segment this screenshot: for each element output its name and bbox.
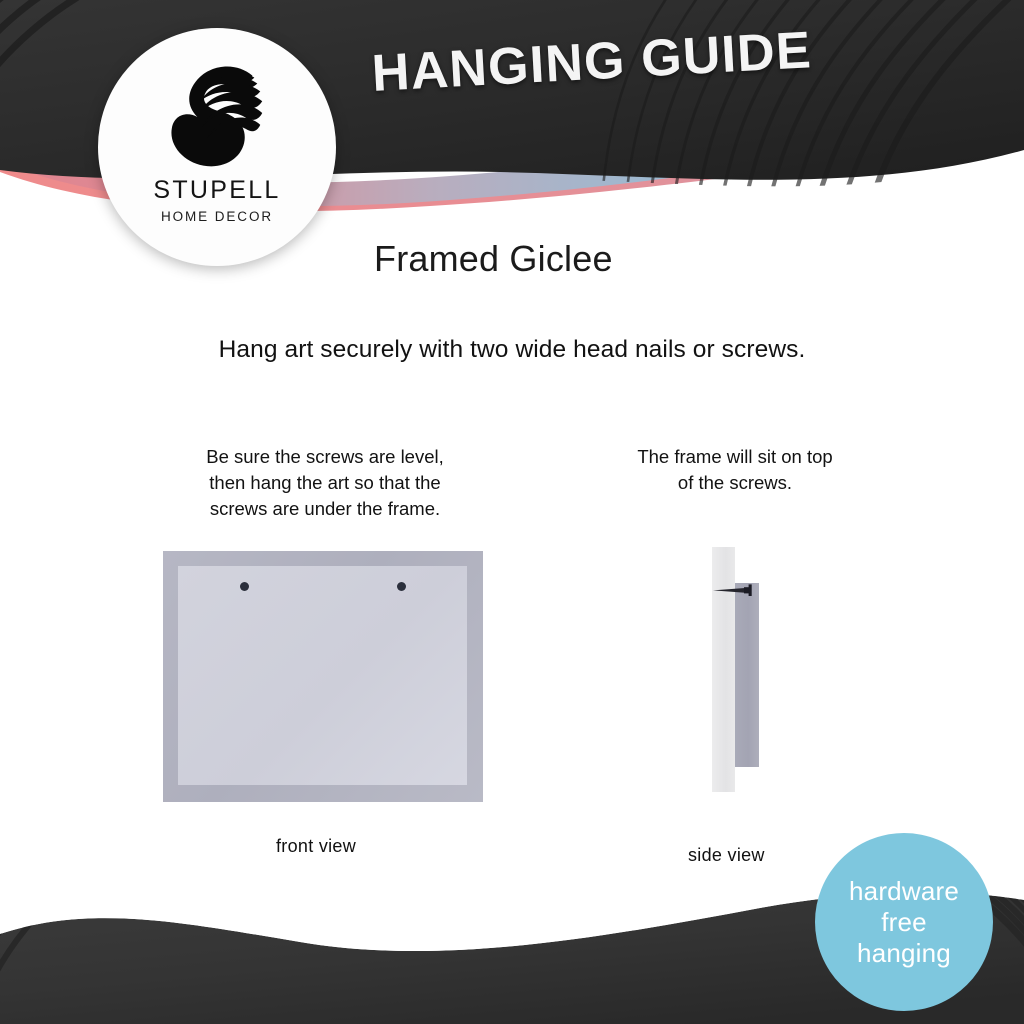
front-view-caption-line-1: Be sure the screws are level, <box>110 444 540 470</box>
front-view-caption-line-2: then hang the art so that the <box>110 470 540 496</box>
side-view-label: side view <box>688 845 765 866</box>
front-view-frame-diagram <box>163 551 483 802</box>
front-view-caption-line-3: screws are under the frame. <box>110 496 540 522</box>
hardware-free-hanging-badge: hardware free hanging <box>815 833 993 1011</box>
front-view-panel: Be sure the screws are level, then hang … <box>110 444 540 522</box>
badge-line-1: hardware <box>849 876 959 907</box>
logo-wordmark: STUPELL <box>153 176 280 205</box>
screw-hole-right-icon <box>397 582 406 591</box>
stupell-swirl-s-icon <box>158 54 276 174</box>
screw-hole-left-icon <box>240 582 249 591</box>
side-view-caption-line-1: The frame will sit on top <box>560 444 910 470</box>
badge-line-3: hanging <box>857 938 951 969</box>
front-view-label: front view <box>276 836 356 857</box>
side-view-caption: The frame will sit on top of the screws. <box>560 444 910 496</box>
hanging-guide-page: STUPELL HOME DECOR HANGING GUIDE Framed … <box>0 0 1024 1024</box>
side-view-frame <box>735 583 759 767</box>
badge-line-2: free <box>881 907 927 938</box>
page-title: HANGING GUIDE <box>370 16 892 104</box>
product-name: Framed Giclee <box>374 238 613 280</box>
stupell-logo-badge: STUPELL HOME DECOR <box>98 28 336 266</box>
logo-tagline: HOME DECOR <box>161 209 273 224</box>
side-view-caption-line-2: of the screws. <box>560 470 910 496</box>
instruction-lede: Hang art securely with two wide head nai… <box>0 336 1024 364</box>
side-view-screw-icon <box>712 583 760 597</box>
front-view-mat <box>178 566 467 785</box>
front-view-caption: Be sure the screws are level, then hang … <box>110 444 540 522</box>
side-view-panel: The frame will sit on top of the screws. <box>560 444 910 496</box>
